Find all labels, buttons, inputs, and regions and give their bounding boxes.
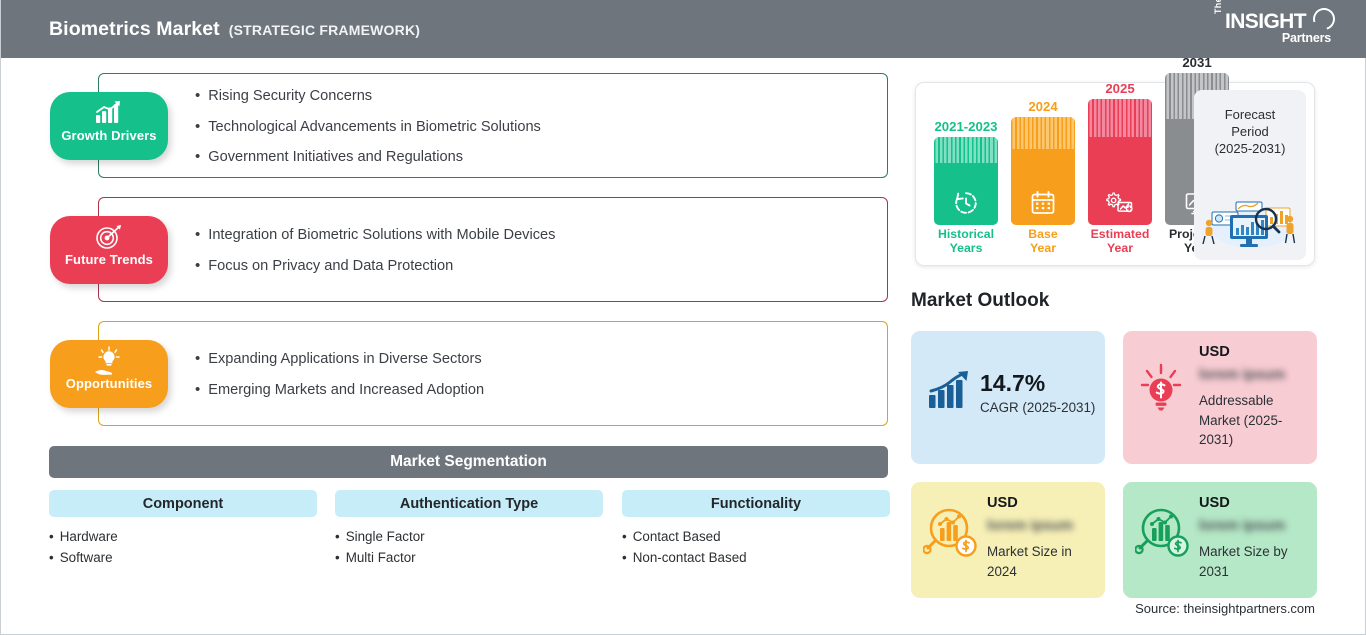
card-label: Market Size by 2031 [1199, 542, 1309, 581]
timeline-bar-base-year: 2024 [1011, 117, 1075, 255]
segmentation-column-component: Component Hardware Software [49, 490, 317, 568]
market-outlook-title: Market Outlook [911, 290, 1049, 312]
segment-item: Multi Factor [335, 547, 603, 568]
bullet-item: Government Initiatives and Regulations [195, 148, 541, 166]
badge-future-trends[interactable]: Future Trends [50, 216, 168, 284]
header-title-group: Biometrics Market (STRATEGIC FRAMEWORK) [49, 18, 420, 41]
market-timeline-chart: 2021-2023 HistoricalYears 2024 [915, 82, 1315, 266]
currency-label: USD [1199, 495, 1309, 511]
amount-value-redacted: lorem ipsum [987, 518, 1097, 534]
magnifier-chart-dollar-icon [923, 504, 979, 565]
timeline-bar-solid [1011, 149, 1075, 225]
forecast-period-panel: Forecast Period (2025-2031) [1194, 90, 1306, 260]
timeline-year-label: 2021-2023 [934, 119, 998, 134]
bullet-item: Expanding Applications in Diverse Sector… [195, 350, 484, 368]
currency-label: USD [987, 495, 1097, 511]
forecast-line-2: Period [1194, 123, 1306, 140]
timeline-year-label: 2025 [1088, 81, 1152, 96]
market-size-2031-body: USD lorem ipsum Market Size by 2031 [1199, 495, 1309, 581]
amount-value-redacted: lorem ipsum [1199, 367, 1309, 383]
business-analytics-illustration [1196, 183, 1304, 254]
bullet-item: Focus on Privacy and Data Protection [195, 257, 555, 275]
cagr-label: CAGR (2025-2031) [980, 400, 1095, 415]
card-label: Market Size in 2024 [987, 542, 1097, 581]
page-title: Biometrics Market [49, 18, 220, 41]
bullet-item: Integration of Biometric Solutions with … [195, 226, 555, 244]
timeline-bar [934, 137, 998, 225]
lightbulb-dollar-icon [1135, 361, 1187, 422]
market-segmentation-title: Market Segmentation [390, 453, 547, 471]
badge-label: Future Trends [65, 252, 153, 267]
timeline-year-label: 2024 [1011, 99, 1075, 114]
cagr-text-block: 14.7% CAGR (2025-2031) [980, 372, 1095, 415]
timeline-bar-solid [934, 163, 998, 225]
logo-partners-text: Partners [1282, 31, 1331, 45]
timeline-bar-stripes [1011, 117, 1075, 149]
segment-pill[interactable]: Component [49, 490, 317, 517]
outlook-card-cagr[interactable]: 14.7% CAGR (2025-2031) [911, 331, 1105, 464]
outlook-card-addressable-market[interactable]: USD lorem ipsum Addressable Market (2025… [1123, 331, 1317, 464]
target-dart-icon [95, 222, 123, 252]
timeline-caption: HistoricalYears [934, 227, 998, 255]
segment-pill-label: Functionality [711, 496, 801, 512]
badge-growth-drivers[interactable]: Growth Drivers [50, 92, 168, 160]
page-subtitle: (STRATEGIC FRAMEWORK) [229, 22, 420, 38]
infographic-page: Biometrics Market (STRATEGIC FRAMEWORK) … [0, 0, 1366, 635]
timeline-bar-stripes [1088, 99, 1152, 137]
segmentation-column-functionality: Functionality Contact Based Non-contact … [622, 490, 890, 568]
card-label: Addressable Market (2025-2031) [1199, 391, 1309, 450]
strategy-box-future-trends: Integration of Biometric Solutions with … [98, 197, 888, 302]
market-size-2024-body: USD lorem ipsum Market Size in 2024 [987, 495, 1097, 581]
timeline-bar-historical: 2021-2023 HistoricalYears [934, 137, 998, 255]
page-header: Biometrics Market (STRATEGIC FRAMEWORK) … [1, 0, 1366, 58]
insight-partners-logo[interactable]: The INSIGHT Partners [1213, 8, 1337, 50]
timeline-bar-stripes [934, 137, 998, 163]
segment-item: Single Factor [335, 526, 603, 547]
amount-value-redacted: lorem ipsum [1199, 518, 1309, 534]
segment-item: Software [49, 547, 317, 568]
segment-pill-label: Authentication Type [400, 496, 538, 512]
growth-drivers-bullet-list: Rising Security Concerns Technological A… [195, 74, 541, 179]
timeline-caption: BaseYear [1011, 227, 1075, 255]
segment-item-list: Hardware Software [49, 526, 317, 568]
strategy-box-growth-drivers: Rising Security Concerns Technological A… [98, 73, 888, 178]
outlook-card-market-size-2024[interactable]: USD lorem ipsum Market Size in 2024 [911, 482, 1105, 598]
bar-chart-growth-icon [94, 98, 124, 128]
analytics-gear-icon [1088, 190, 1152, 216]
timeline-year-label: 2031 [1165, 55, 1229, 70]
forecast-period-text: Forecast Period (2025-2031) [1194, 106, 1306, 157]
bullet-item: Rising Security Concerns [195, 87, 541, 105]
strategy-box-opportunities: Expanding Applications in Diverse Sector… [98, 321, 888, 426]
outlook-card-market-size-2031[interactable]: USD lorem ipsum Market Size by 2031 [1123, 482, 1317, 598]
forecast-line-1: Forecast [1194, 106, 1306, 123]
segment-item-list: Contact Based Non-contact Based [622, 526, 890, 568]
segment-item-list: Single Factor Multi Factor [335, 526, 603, 568]
timeline-bar [1011, 117, 1075, 225]
segment-pill[interactable]: Functionality [622, 490, 890, 517]
source-note: Source: theinsightpartners.com [1135, 601, 1315, 616]
opportunities-bullet-list: Expanding Applications in Diverse Sector… [195, 322, 484, 427]
lightbulb-hand-icon [92, 346, 126, 376]
segment-pill-label: Component [143, 496, 224, 512]
bar-chart-arrow-icon [927, 371, 971, 416]
badge-label: Opportunities [66, 376, 153, 391]
bullet-item: Technological Advancements in Biometric … [195, 118, 541, 136]
timeline-bar-solid [1088, 137, 1152, 225]
cagr-content: 14.7% CAGR (2025-2031) [927, 371, 1095, 416]
segment-item: Hardware [49, 526, 317, 547]
calendar-icon [1011, 190, 1075, 216]
currency-label: USD [1199, 344, 1309, 360]
addressable-market-body: USD lorem ipsum Addressable Market (2025… [1199, 344, 1309, 450]
bullet-item: Emerging Markets and Increased Adoption [195, 381, 484, 399]
segment-item: Contact Based [622, 526, 890, 547]
segmentation-column-authentication-type: Authentication Type Single Factor Multi … [335, 490, 603, 568]
badge-label: Growth Drivers [61, 128, 156, 143]
market-segmentation-header: Market Segmentation [49, 446, 888, 478]
logo-arc-icon [1309, 4, 1339, 34]
timeline-caption: EstimatedYear [1088, 227, 1152, 255]
timeline-bar [1088, 99, 1152, 225]
timeline-bar-estimated-year: 2025 EstimatedY [1088, 99, 1152, 255]
segment-item: Non-contact Based [622, 547, 890, 568]
magnifier-chart-dollar-icon [1135, 504, 1191, 565]
future-trends-bullet-list: Integration of Biometric Solutions with … [195, 198, 555, 303]
forecast-line-3: (2025-2031) [1194, 140, 1306, 157]
cagr-value: 14.7% [980, 372, 1095, 395]
history-clock-icon [934, 190, 998, 216]
segment-pill[interactable]: Authentication Type [335, 490, 603, 517]
badge-opportunities[interactable]: Opportunities [50, 340, 168, 408]
logo-the-text: The [1213, 0, 1223, 14]
